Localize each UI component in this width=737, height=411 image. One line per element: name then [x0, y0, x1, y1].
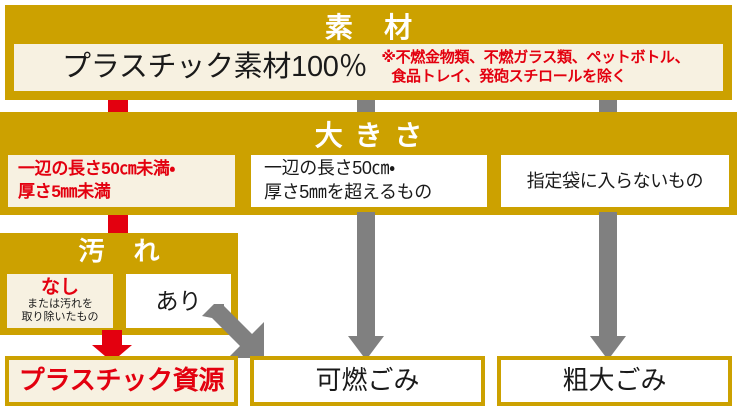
- box-size-over-line2: 厚さ5㎜を超えるもの: [264, 181, 432, 205]
- box-size-over[interactable]: 一辺の長さ50㎝・ 厚さ5㎜を超えるもの: [248, 152, 490, 210]
- result-plastic-resource-label: プラスチック資源: [19, 366, 224, 396]
- arrow-stem: [357, 212, 375, 337]
- box-plastic-100[interactable]: プラスチック素材100％ ※不燃金物類、不燃ガラス類、ペットボトル、 食品トレイ…: [12, 42, 725, 93]
- box-dirt-none-line2: または汚れを: [22, 298, 99, 311]
- result-burnable-label: 可燃ごみ: [315, 366, 419, 396]
- box-size-oversize[interactable]: 指定袋に入らないもの: [498, 152, 732, 210]
- box-dirt-none-text: なし または汚れを 取り除いたもの: [22, 278, 99, 325]
- result-plastic-resource[interactable]: プラスチック資源: [5, 356, 238, 406]
- section-size-title: 大きさ: [0, 122, 737, 150]
- arrow-size-to-oversized-gray: [590, 212, 626, 360]
- box-size-under-text: 一辺の長さ50㎝未満・ 厚さ5㎜未満: [8, 158, 175, 204]
- arrow-stem: [599, 212, 617, 337]
- box-dirt-none-line3: 取り除いたもの: [22, 311, 99, 324]
- box-plastic-100-label: プラスチック素材100％: [14, 51, 367, 84]
- box-dirt-none[interactable]: なし または汚れを 取り除いたもの: [5, 272, 115, 330]
- box-size-oversize-label: 指定袋に入らないもの: [527, 171, 703, 192]
- sorting-flowchart: 素 材 プラスチック素材100％ ※不燃金物類、不燃ガラス類、ペットボトル、 食…: [0, 0, 737, 411]
- section-material-title: 素 材: [5, 14, 732, 42]
- box-plastic-100-note-line1: ※不燃金物類、不燃ガラス類、ペットボトル、: [381, 49, 689, 67]
- box-size-over-text: 一辺の長さ50㎝・ 厚さ5㎜を超えるもの: [251, 157, 432, 205]
- arrow-dirtyes-to-burnable-gray: [198, 304, 278, 360]
- result-oversized-label: 粗大ごみ: [562, 366, 666, 396]
- box-plastic-100-note-line2: 食品トレイ、発砲スチロールを除く: [381, 68, 689, 86]
- box-plastic-100-note: ※不燃金物類、不燃ガラス類、ペットボトル、 食品トレイ、発砲スチロールを除く: [381, 49, 689, 86]
- arrow-stem: [102, 330, 122, 346]
- box-size-under[interactable]: 一辺の長さ50㎝未満・ 厚さ5㎜未満: [5, 152, 238, 210]
- arrow-size-to-burnable-gray: [348, 212, 384, 360]
- section-dirt-title: 汚 れ: [0, 238, 238, 264]
- result-burnable[interactable]: 可燃ごみ: [250, 356, 485, 406]
- box-size-under-line2: 厚さ5㎜未満: [18, 181, 175, 204]
- box-size-under-line1: 一辺の長さ50㎝未満・: [18, 158, 175, 181]
- result-oversized[interactable]: 粗大ごみ: [497, 356, 732, 406]
- box-size-over-line1: 一辺の長さ50㎝・: [264, 157, 432, 181]
- box-dirt-none-line1: なし: [22, 278, 99, 298]
- box-dirt-yes-label: あり: [156, 288, 202, 314]
